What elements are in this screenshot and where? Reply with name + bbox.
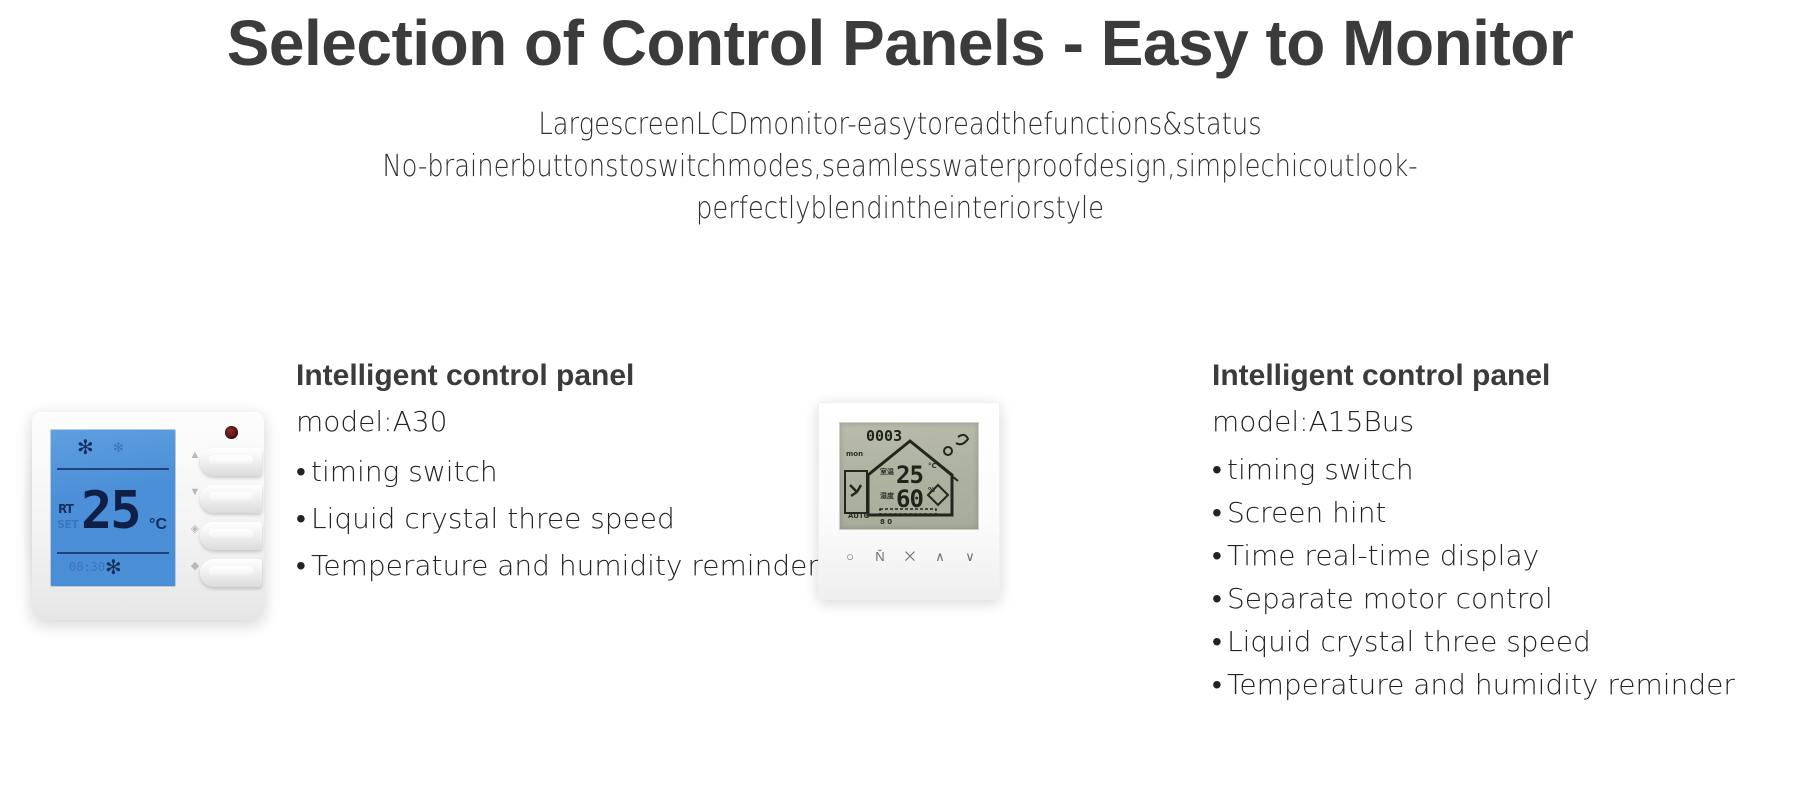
feature-list-a15bus: •timing switch •Screen hint •Time real-t… <box>1212 448 1735 706</box>
a30-fan-button[interactable] <box>200 559 262 587</box>
lcd-fan-tag: AUTO <box>848 513 870 520</box>
lcd-temperature-value: 25 <box>896 463 923 487</box>
product-text-a30: Intelligent control panel model:A30 •tim… <box>296 358 819 589</box>
chevron-down-icon[interactable]: ∨ <box>960 550 980 563</box>
a30-down-button[interactable] <box>200 485 262 513</box>
bullet-icon: • <box>1212 620 1222 663</box>
lcd-humidity-value: 60 <box>896 487 923 511</box>
lcd-humidity-tag: 湿度 <box>880 493 894 500</box>
a30-button-rail: ▲ ▼ ◈ ◆ <box>188 448 260 610</box>
a30-lcd-screen: ✻ ✻ RT SET 25 °C 08:30 ✻ <box>50 429 176 587</box>
bullet-icon: • <box>296 495 306 542</box>
feature-label: Screen hint <box>1227 496 1386 529</box>
bullet-icon: • <box>296 448 306 495</box>
bullet-icon: • <box>1212 534 1222 577</box>
feature-label: timing switch <box>311 455 498 488</box>
list-item: •Temperature and humidity reminder <box>296 542 819 589</box>
snowflake-icon: ✻ <box>77 438 94 458</box>
power-icon[interactable]: Ň <box>870 550 890 563</box>
product-text-a15bus: Intelligent control panel model:A15Bus •… <box>1212 358 1735 706</box>
lcd-bottom-segments: 8 0 <box>880 519 892 526</box>
lcd-set-label: SET <box>57 518 78 531</box>
lcd-divider-bottom <box>57 552 169 554</box>
a15-housing: 0003 25 60 室温 湿度 °C % mon AUTO 8 0 ○ Ň ⨉… <box>818 402 1000 600</box>
lcd-top-segments: 0003 <box>866 429 902 444</box>
bullet-icon: • <box>1212 491 1222 534</box>
a30-mode-button[interactable] <box>200 522 262 550</box>
subtitle-line-2: No-brainerbuttonstoswitchmodes,seamlessw… <box>126 146 1674 188</box>
lcd-divider-top <box>57 468 169 470</box>
list-item: • Temperature and humidity reminder <box>1212 663 1735 706</box>
feature-label: Temperature and humidity reminder <box>1227 668 1735 701</box>
list-item: •Separate motor control <box>1212 577 1735 620</box>
fan-speed-icon[interactable]: ⨉ <box>900 550 920 563</box>
lcd-temperature-value: 25 <box>81 485 140 537</box>
snowflake-secondary-icon: ✻ <box>113 441 124 454</box>
bullet-icon: • <box>296 542 306 589</box>
bullet-icon: • <box>1212 663 1222 706</box>
slide-root: Selection of Control Panels - Easy to Mo… <box>0 0 1800 786</box>
list-item: • Liquid crystal three speed <box>1212 620 1735 663</box>
product-image-a30: ✻ ✻ RT SET 25 °C 08:30 ✻ ▲ ▼ ◈ ◆ <box>32 412 264 620</box>
feature-label: Separate motor control <box>1227 582 1553 615</box>
lcd-temperature-unit: °C <box>149 516 167 534</box>
product-image-a15bus: 0003 25 60 室温 湿度 °C % mon AUTO 8 0 ○ Ň ⨉… <box>818 402 1000 600</box>
lcd-rt-label: RT <box>58 502 73 516</box>
page-subtitle: LargescreenLCDmonitor-easytoreadthefunct… <box>126 104 1674 230</box>
bullet-icon: • <box>1212 448 1222 491</box>
a15-touch-keys: ○ Ň ⨉ ∧ ∨ <box>840 550 980 563</box>
a30-up-button[interactable] <box>200 448 262 476</box>
lcd-clock-value: 08:30 <box>69 560 105 574</box>
product-model-a30: model:A30 <box>296 405 819 438</box>
list-item: •timing switch <box>296 448 819 495</box>
subtitle-line-1: LargescreenLCDmonitor-easytoreadthefunct… <box>126 104 1674 146</box>
list-item: •Time real-time display <box>1212 534 1735 577</box>
page-title: Selection of Control Panels - Easy to Mo… <box>0 6 1800 82</box>
product-heading-a15bus: Intelligent control panel <box>1212 358 1735 394</box>
lcd-week-label: mon <box>846 451 863 458</box>
clock-icon[interactable]: ○ <box>840 550 860 563</box>
product-model-a15bus: model:A15Bus <box>1212 405 1735 438</box>
feature-label: Liquid crystal three speed <box>311 502 675 535</box>
list-item: •Liquid crystal three speed <box>296 495 819 542</box>
lcd-temperature-tag: 室温 <box>880 469 894 476</box>
list-item: •Screen hint <box>1212 491 1735 534</box>
lcd-temperature-unit: °C <box>928 463 937 470</box>
feature-label: Liquid crystal three speed <box>1227 625 1591 658</box>
lcd-humidity-unit: % <box>928 487 935 494</box>
feature-list-a30: •timing switch •Liquid crystal three spe… <box>296 448 819 589</box>
chevron-up-icon[interactable]: ∧ <box>930 550 950 563</box>
bullet-icon: • <box>1212 577 1222 620</box>
feature-label: timing switch <box>1227 453 1414 486</box>
a30-housing: ✻ ✻ RT SET 25 °C 08:30 ✻ ▲ ▼ ◈ ◆ <box>32 412 264 620</box>
fan-icon: ✻ <box>105 558 122 578</box>
a15-lcd-screen: 0003 25 60 室温 湿度 °C % mon AUTO 8 0 <box>839 422 979 530</box>
feature-label: Temperature and humidity reminder <box>311 549 819 582</box>
product-heading-a30: Intelligent control panel <box>296 358 819 394</box>
subtitle-line-3: perfectlyblendintheinteriorstyle <box>126 188 1674 230</box>
list-item: •timing switch <box>1212 448 1735 491</box>
power-led-indicator <box>225 426 238 439</box>
feature-label: Time real-time display <box>1227 539 1539 572</box>
